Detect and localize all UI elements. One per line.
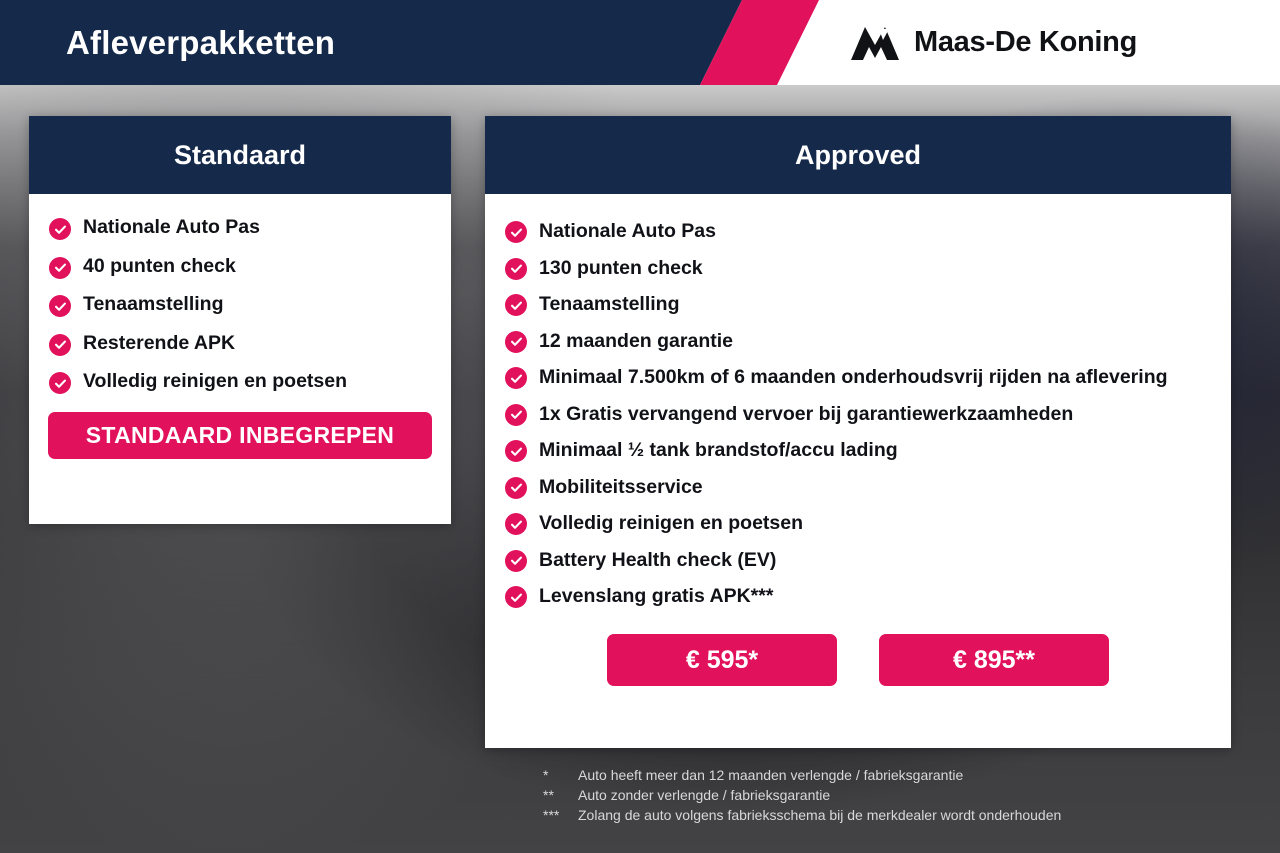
card-body-approved: Nationale Auto Pas 130 punten check Tena… [485,194,1231,686]
footnote-text: Auto heeft meer dan 12 maanden verlengde… [578,765,963,785]
feature-text: Minimaal 7.500km of 6 maanden onderhouds… [539,362,1168,392]
footnote-marker: ** [543,785,578,805]
list-item: Tenaamstelling [49,293,451,317]
page-title: Afleverpakketten [66,0,335,85]
list-item: 1x Gratis vervangend vervoer bij garanti… [505,399,1231,429]
footnote-text: Zolang de auto volgens fabrieksschema bi… [578,805,1061,825]
price-button-895[interactable]: € 895** [879,634,1109,686]
list-item: 12 maanden garantie [505,326,1231,356]
footnotes: * Auto heeft meer dan 12 maanden verleng… [543,765,1061,825]
package-card-approved: Approved Nationale Auto Pas 130 punten c… [485,116,1231,748]
list-item: Volledig reinigen en poetsen [49,370,451,394]
footnote-row: *** Zolang de auto volgens fabrieksschem… [543,805,1061,825]
check-circle-icon [49,218,71,240]
check-circle-icon [505,440,527,462]
check-circle-icon [49,295,71,317]
footnote-row: ** Auto zonder verlengde / fabrieksgaran… [543,785,1061,805]
check-circle-icon [505,294,527,316]
feature-text: Resterende APK [83,332,235,355]
list-item: Tenaamstelling [505,289,1231,319]
list-item: Battery Health check (EV) [505,545,1231,575]
list-item: 130 punten check [505,253,1231,283]
list-item: Minimaal 7.500km of 6 maanden onderhouds… [505,362,1231,392]
footnote-marker: * [543,765,578,785]
feature-text: Tenaamstelling [539,289,680,319]
list-item: Nationale Auto Pas [505,216,1231,246]
footnote-row: * Auto heeft meer dan 12 maanden verleng… [543,765,1061,785]
feature-text: Volledig reinigen en poetsen [83,370,347,393]
list-item: Volledig reinigen en poetsen [505,508,1231,538]
feature-list-approved: Nationale Auto Pas 130 punten check Tena… [485,216,1231,611]
feature-text: Tenaamstelling [83,293,224,316]
list-item: Nationale Auto Pas [49,216,451,240]
check-circle-icon [505,258,527,280]
check-circle-icon [505,550,527,572]
standaard-inbegrepen-button[interactable]: STANDAARD INBEGREPEN [48,412,432,459]
feature-text: 1x Gratis vervangend vervoer bij garanti… [539,399,1073,429]
feature-text: Battery Health check (EV) [539,545,776,575]
feature-text: 130 punten check [539,253,703,283]
footnote-marker: *** [543,805,578,825]
list-item: Mobiliteitsservice [505,472,1231,502]
card-title-approved: Approved [485,116,1231,194]
price-button-row: € 595* € 895** [485,634,1231,686]
card-body-standaard: Nationale Auto Pas 40 punten check Tenaa… [29,194,451,459]
check-circle-icon [505,513,527,535]
check-circle-icon [505,404,527,426]
check-circle-icon [505,586,527,608]
feature-text: Volledig reinigen en poetsen [539,508,803,538]
maas-de-koning-m-logo-icon [849,25,901,61]
list-item: Resterende APK [49,332,451,356]
feature-text: Levenslang gratis APK*** [539,581,773,611]
check-circle-icon [505,331,527,353]
list-item: 40 punten check [49,255,451,279]
page-header: Afleverpakketten Maas-De Koning [0,0,1280,85]
list-item: Levenslang gratis APK*** [505,581,1231,611]
check-circle-icon [49,334,71,356]
brand-name: Maas-De Koning [914,26,1137,59]
feature-text: 12 maanden garantie [539,326,733,356]
list-item: Minimaal ½ tank brandstof/accu lading [505,435,1231,465]
check-circle-icon [49,257,71,279]
package-card-standaard: Standaard Nationale Auto Pas 40 punten c… [29,116,451,524]
check-circle-icon [505,477,527,499]
footnote-text: Auto zonder verlengde / fabrieksgarantie [578,785,830,805]
feature-text: 40 punten check [83,255,236,278]
card-title-standaard: Standaard [29,116,451,194]
check-circle-icon [505,367,527,389]
price-button-595[interactable]: € 595* [607,634,837,686]
brand-lockup: Maas-De Koning [849,0,1137,85]
check-circle-icon [505,221,527,243]
feature-text: Minimaal ½ tank brandstof/accu lading [539,435,898,465]
feature-text: Mobiliteitsservice [539,472,703,502]
feature-text: Nationale Auto Pas [539,216,716,246]
check-circle-icon [49,372,71,394]
feature-text: Nationale Auto Pas [83,216,260,239]
feature-list-standaard: Nationale Auto Pas 40 punten check Tenaa… [29,216,451,394]
poster-root: Afleverpakketten Maas-De Koning Standaar… [0,0,1280,853]
